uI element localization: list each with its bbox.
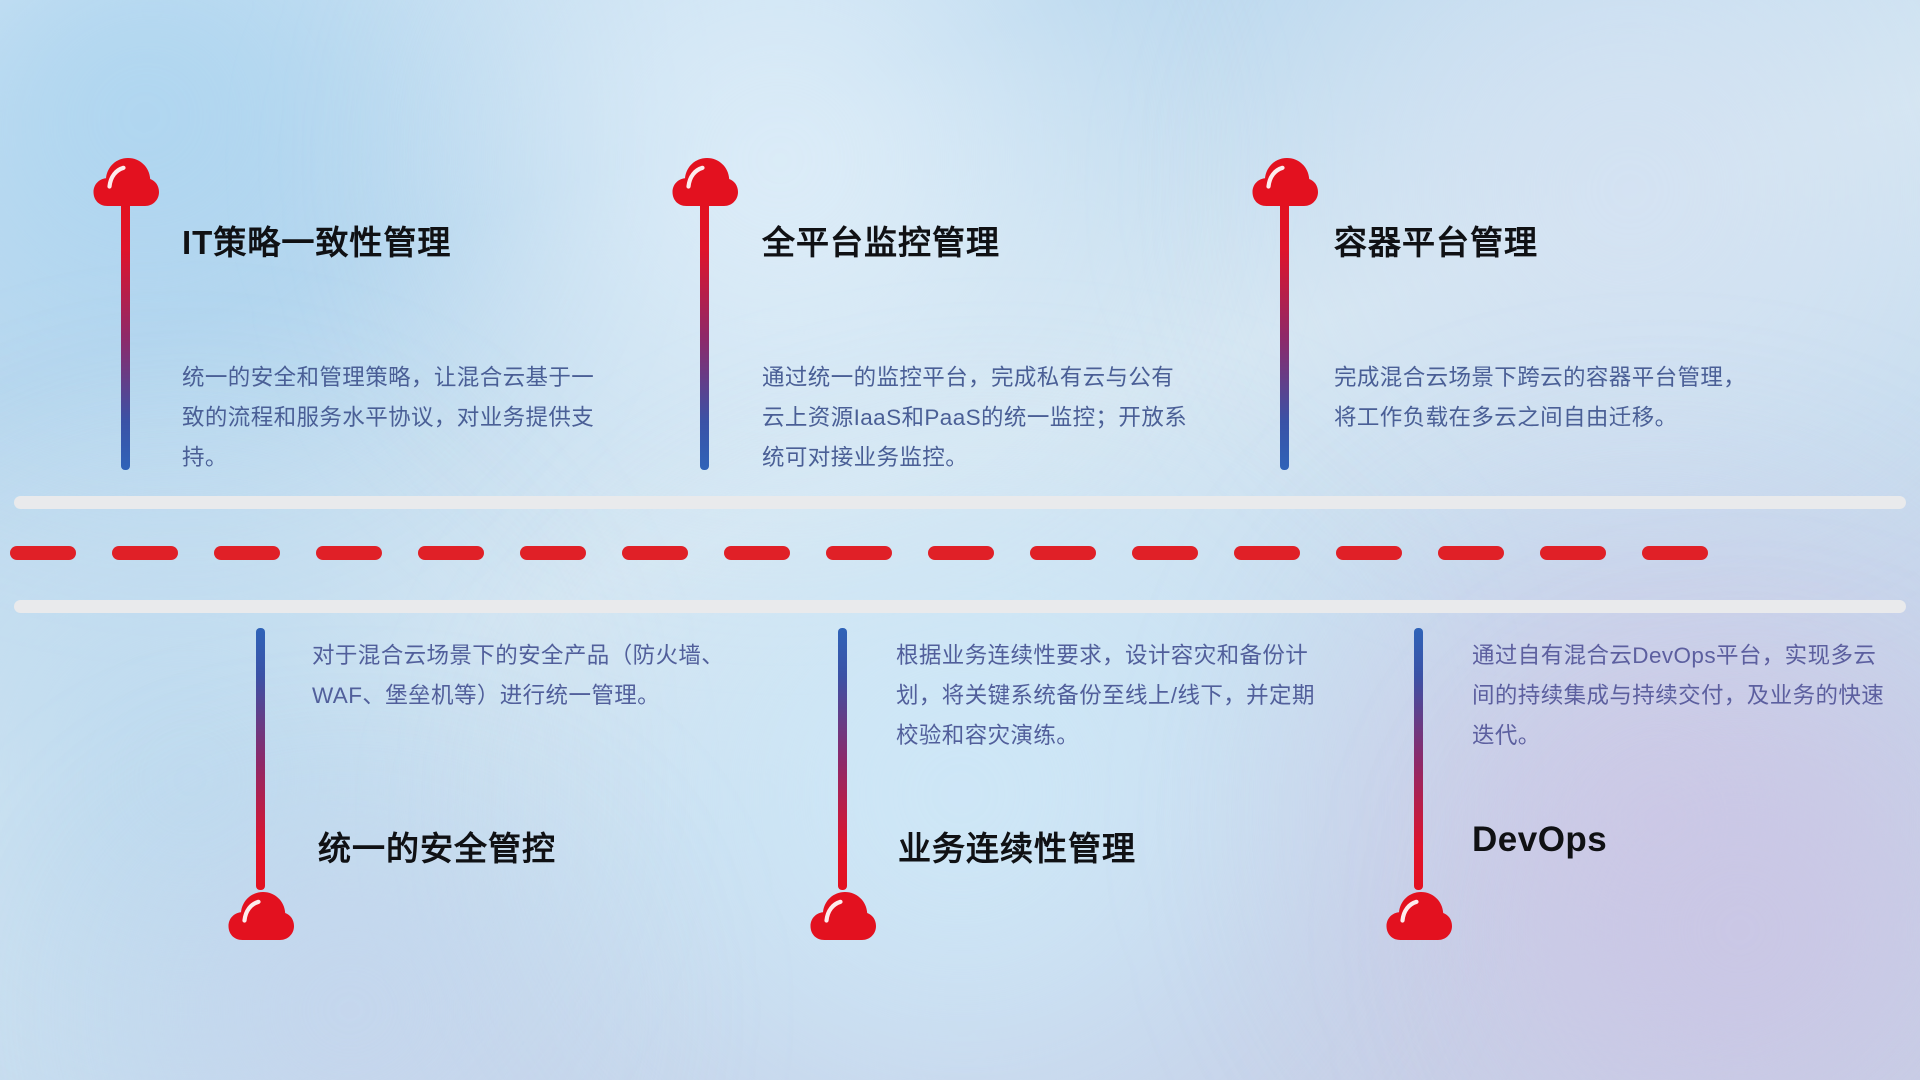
- card-body: 通过统一的监控平台，完成私有云与公有云上资源IaaS和PaaS的统一监控；开放系…: [762, 358, 1197, 478]
- divider-dash: [1234, 546, 1300, 560]
- card-heading: 容器平台管理: [1334, 216, 1538, 264]
- card-body: 对于混合云场景下的安全产品（防火墙、WAF、堡垒机等）进行统一管理。: [312, 636, 732, 716]
- cloud-icon: [810, 890, 876, 942]
- card-heading: IT策略一致性管理: [182, 216, 451, 264]
- divider-dash: [1438, 546, 1504, 560]
- divider-dash: [622, 546, 688, 560]
- card-body: 根据业务连续性要求，设计容灾和备份计划，将关键系统备份至线上/线下，并定期校验和…: [896, 636, 1316, 756]
- divider-dash: [520, 546, 586, 560]
- divider-dash: [1642, 546, 1708, 560]
- card-body: 统一的安全和管理策略，让混合云基于一致的流程和服务水平协议，对业务提供支持。: [182, 358, 602, 478]
- connector-stem: [256, 628, 265, 890]
- divider-dash: [928, 546, 994, 560]
- divider-dash: [214, 546, 280, 560]
- connector-stem: [1280, 200, 1289, 470]
- divider-dash: [10, 546, 76, 560]
- card-heading: 全平台监控管理: [762, 216, 1000, 264]
- connector-stem: [121, 200, 130, 470]
- divider-dashed-line: [10, 546, 1915, 560]
- divider-rule-top: [14, 496, 1906, 509]
- divider-dash: [316, 546, 382, 560]
- divider-dash: [1336, 546, 1402, 560]
- card-body: 完成混合云场景下跨云的容器平台管理，将工作负载在多云之间自由迁移。: [1334, 358, 1764, 438]
- divider-dash: [1030, 546, 1096, 560]
- connector-stem: [1414, 628, 1423, 890]
- cloud-icon: [228, 890, 294, 942]
- divider-dash: [1540, 546, 1606, 560]
- card-heading: 统一的安全管控: [318, 822, 556, 870]
- divider-dash: [826, 546, 892, 560]
- divider-rule-bottom: [14, 600, 1906, 613]
- divider-dash: [1132, 546, 1198, 560]
- divider-dash: [112, 546, 178, 560]
- card-body: 通过自有混合云DevOps平台，实现多云间的持续集成与持续交付，及业务的快速迭代…: [1472, 636, 1892, 756]
- cloud-icon: [1386, 890, 1452, 942]
- divider-dash: [418, 546, 484, 560]
- card-heading: DevOps: [1472, 820, 1607, 860]
- connector-stem: [838, 628, 847, 890]
- divider-dash: [724, 546, 790, 560]
- connector-stem: [700, 200, 709, 470]
- card-heading: 业务连续性管理: [898, 822, 1136, 870]
